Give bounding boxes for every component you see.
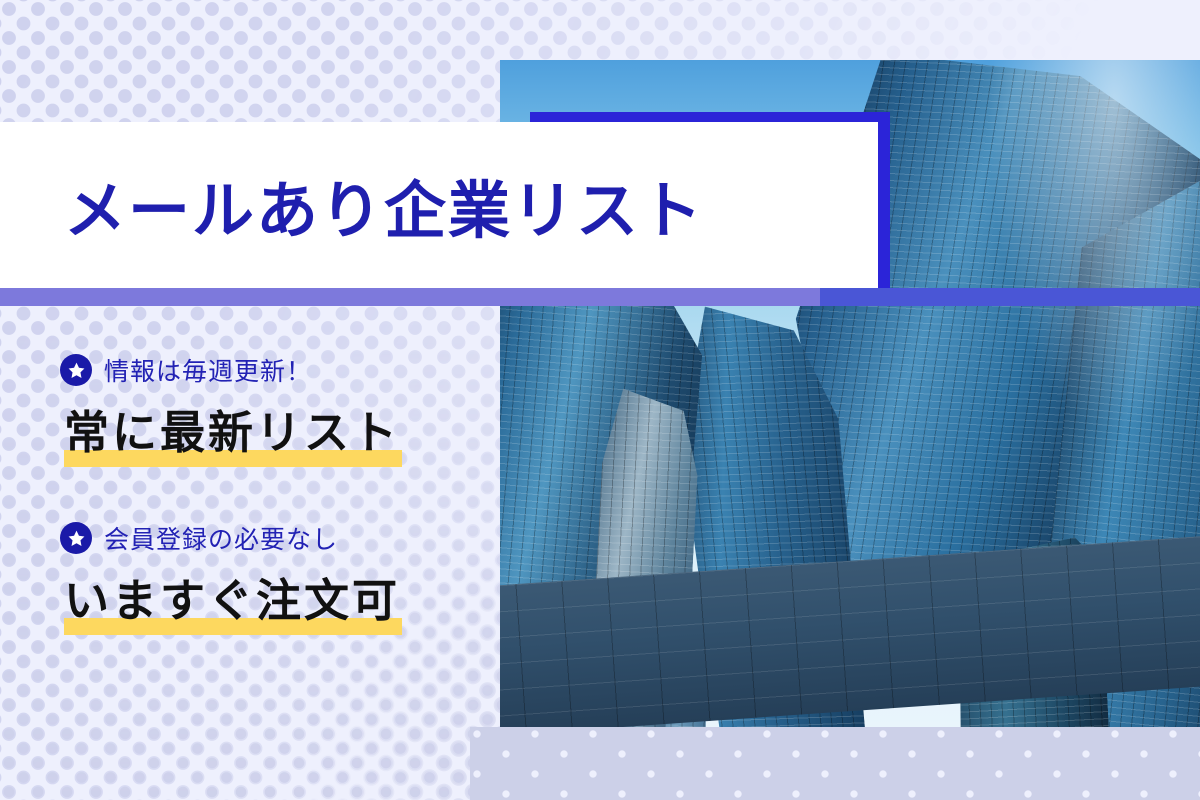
inverted-dot-block [470,727,1200,800]
feature-item-1: 情報は毎週更新！ 常に最新リスト [60,352,400,461]
star-badge-icon [60,522,92,554]
feature-2-row: 会員登録の必要なし [60,520,400,556]
accent-bar-purple-right [820,288,1200,306]
feature-1-headline: 常に最新リスト [64,396,400,461]
accent-bar-purple [0,288,880,306]
feature-1-sublabel: 情報は毎週更新！ [104,352,312,388]
feature-item-2: 会員登録の必要なし いますぐ注文可 [60,520,400,629]
feature-1-row: 情報は毎週更新！ [60,352,400,388]
sun-glare [970,60,1200,480]
page-title: メールあり企業リスト [64,160,854,250]
star-badge-icon [60,354,92,386]
feature-2-sublabel: 会員登録の必要なし [104,520,338,556]
feature-2-headline: いますぐ注文可 [64,564,400,629]
promo-banner: メールあり企業リスト 情報は毎週更新！ 常に最新リスト 会員登録の必要なし いま… [0,0,1200,800]
